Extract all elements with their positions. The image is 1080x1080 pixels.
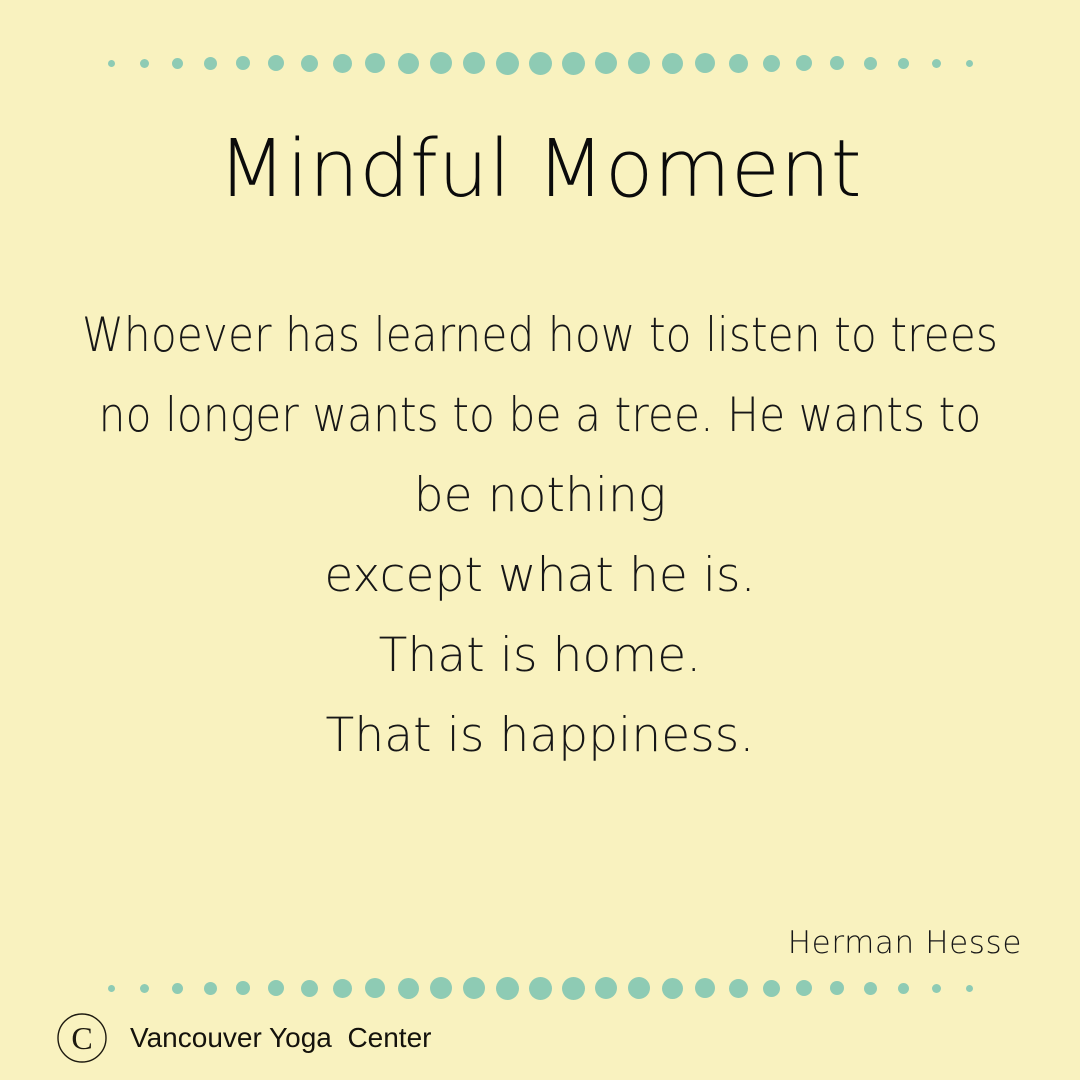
decorative-dot bbox=[293, 980, 326, 997]
decorative-dot bbox=[194, 57, 227, 70]
decorative-dot bbox=[755, 55, 788, 72]
footer: C Vancouver Yoga Center bbox=[56, 1008, 431, 1068]
decorative-dot bbox=[722, 979, 755, 998]
decorative-dot bbox=[920, 59, 953, 68]
svg-text:C: C bbox=[71, 1020, 92, 1056]
decorative-dot bbox=[953, 60, 986, 67]
decorative-dot bbox=[590, 52, 623, 74]
decorative-dot bbox=[260, 980, 293, 996]
decorative-dot bbox=[722, 54, 755, 73]
decorative-dot bbox=[788, 980, 821, 996]
decorative-dot bbox=[656, 53, 689, 74]
decorative-dot bbox=[755, 980, 788, 997]
quote-line: Whoever has learned how to listen to tre… bbox=[54, 296, 1026, 376]
decorative-dot-rule-top bbox=[0, 46, 1080, 80]
quote-line: be nothing bbox=[0, 456, 1080, 536]
decorative-dot bbox=[689, 53, 722, 73]
decorative-dot bbox=[392, 53, 425, 74]
decorative-dot bbox=[623, 52, 656, 74]
decorative-dot bbox=[326, 979, 359, 998]
decorative-dot bbox=[491, 977, 524, 1000]
brand-name: Vancouver Yoga Center bbox=[130, 1022, 431, 1054]
decorative-dot bbox=[623, 977, 656, 999]
decorative-dot bbox=[920, 984, 953, 993]
decorative-dot bbox=[425, 52, 458, 74]
decorative-dot bbox=[458, 977, 491, 999]
decorative-dot bbox=[854, 57, 887, 70]
decorative-dot bbox=[260, 55, 293, 71]
decorative-dot bbox=[194, 982, 227, 995]
decorative-dot bbox=[458, 52, 491, 74]
decorative-dot bbox=[557, 977, 590, 1000]
quote-line: except what he is. bbox=[0, 536, 1080, 616]
decorative-dot bbox=[161, 983, 194, 994]
decorative-dot bbox=[227, 56, 260, 70]
decorative-dot bbox=[392, 978, 425, 999]
decorative-dot bbox=[293, 55, 326, 72]
decorative-dot bbox=[821, 56, 854, 70]
decorative-dot bbox=[425, 977, 458, 999]
quote-line: That is home. bbox=[0, 616, 1080, 696]
quote-card: Mindful Moment Whoever has learned how t… bbox=[0, 0, 1080, 1080]
page-title: Mindful Moment bbox=[0, 128, 1080, 210]
decorative-dot bbox=[590, 977, 623, 999]
decorative-dot bbox=[887, 58, 920, 69]
decorative-dot bbox=[821, 981, 854, 995]
decorative-dot bbox=[689, 978, 722, 998]
decorative-dot bbox=[887, 983, 920, 994]
decorative-dot-rule-bottom bbox=[0, 971, 1080, 1005]
decorative-dot bbox=[854, 982, 887, 995]
quote-attribution: Herman Hesse bbox=[788, 921, 1022, 965]
decorative-dot bbox=[359, 978, 392, 998]
decorative-dot bbox=[95, 60, 128, 67]
decorative-dot bbox=[557, 52, 590, 75]
decorative-dot bbox=[359, 53, 392, 73]
decorative-dot bbox=[656, 978, 689, 999]
quote-line: That is happiness. bbox=[0, 696, 1080, 776]
decorative-dot bbox=[788, 55, 821, 71]
decorative-dot bbox=[128, 59, 161, 68]
decorative-dot bbox=[326, 54, 359, 73]
brand-logo-icon: C bbox=[56, 1012, 108, 1064]
decorative-dot bbox=[524, 977, 557, 1000]
decorative-dot bbox=[227, 981, 260, 995]
quote-line: no longer wants to be a tree. He wants t… bbox=[54, 376, 1026, 456]
decorative-dot bbox=[491, 52, 524, 75]
decorative-dot bbox=[953, 985, 986, 992]
quote-text-block: Whoever has learned how to listen to tre… bbox=[0, 296, 1080, 776]
decorative-dot bbox=[95, 985, 128, 992]
decorative-dot bbox=[128, 984, 161, 993]
decorative-dot bbox=[161, 58, 194, 69]
decorative-dot bbox=[524, 52, 557, 75]
